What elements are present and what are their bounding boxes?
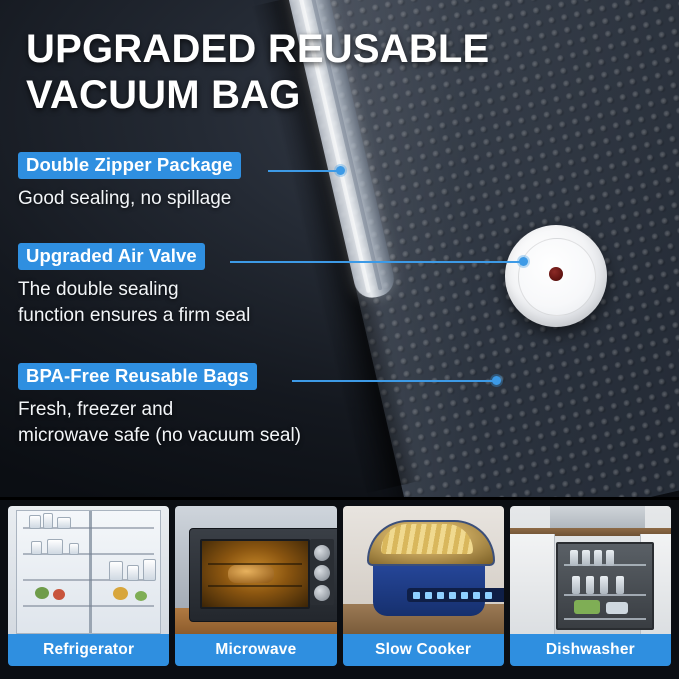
leader-dot-air-valve bbox=[519, 257, 528, 266]
thumbnail-microwave: Microwave bbox=[175, 506, 336, 666]
feature-title-air-valve: Upgraded Air Valve bbox=[18, 243, 205, 270]
refrigerator-photo bbox=[8, 506, 169, 634]
thumbnail-caption-refrigerator: Refrigerator bbox=[8, 634, 169, 666]
dishwasher-photo bbox=[510, 506, 671, 634]
thumbnail-caption-microwave: Microwave bbox=[175, 634, 336, 666]
leader-dot-double-zipper bbox=[336, 166, 345, 175]
thumbnail-dishwasher: Dishwasher bbox=[510, 506, 671, 666]
feature-air-valve: Upgraded Air Valve The double sealing fu… bbox=[18, 243, 250, 329]
thumbnail-caption-dishwasher: Dishwasher bbox=[510, 634, 671, 666]
leader-line-bpa-free bbox=[292, 380, 497, 382]
page-title: UPGRADED REUSABLE VACUUM BAG bbox=[26, 26, 546, 118]
thumbnail-caption-slow-cooker: Slow Cooker bbox=[343, 634, 504, 666]
leader-line-double-zipper bbox=[268, 170, 340, 172]
headline-line-1: UPGRADED REUSABLE bbox=[26, 27, 489, 71]
slow-cooker-photo bbox=[343, 506, 504, 634]
usage-thumbnail-strip: Refrigerator bbox=[0, 500, 679, 679]
air-valve bbox=[505, 225, 607, 327]
feature-double-zipper: Double Zipper Package Good sealing, no s… bbox=[18, 152, 241, 212]
leader-line-air-valve bbox=[230, 261, 524, 263]
product-infographic: UPGRADED REUSABLE VACUUM BAG Double Zipp… bbox=[0, 0, 679, 679]
feature-bpa-free: BPA-Free Reusable Bags Fresh, freezer an… bbox=[18, 363, 301, 449]
leader-dot-bpa-free bbox=[492, 376, 501, 385]
feature-body-bpa-free: Fresh, freezer and microwave safe (no va… bbox=[18, 397, 301, 449]
feature-body-air-valve: The double sealing function ensures a fi… bbox=[18, 277, 250, 329]
thumbnail-refrigerator: Refrigerator bbox=[8, 506, 169, 666]
microwave-photo bbox=[175, 506, 336, 634]
thumbnail-slow-cooker: Slow Cooker bbox=[343, 506, 504, 666]
valve-center-dot bbox=[549, 267, 563, 281]
feature-body-double-zipper: Good sealing, no spillage bbox=[18, 186, 241, 212]
feature-title-double-zipper: Double Zipper Package bbox=[18, 152, 241, 179]
feature-title-bpa-free: BPA-Free Reusable Bags bbox=[18, 363, 257, 390]
headline-line-2: VACUUM BAG bbox=[26, 72, 546, 118]
